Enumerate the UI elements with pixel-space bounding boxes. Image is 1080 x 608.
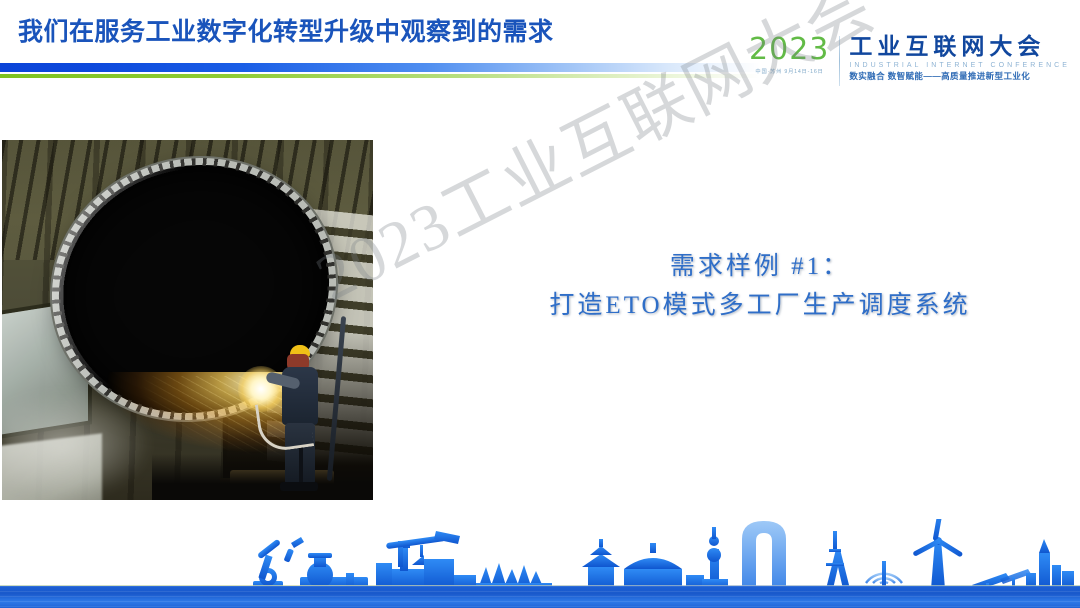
conference-logo-name-cn: 工业互联网大会 [849,34,1070,60]
gate-of-the-orient-icon [742,521,786,589]
city-skyline-silhouette [0,519,1080,589]
factory-icon [376,543,476,589]
city-block-icon [624,543,704,589]
worker-leg-gap [299,445,303,485]
eiffel-tower-icon [826,531,850,589]
page-title: 我们在服务工业数字化转型升级中观察到的需求 [18,16,554,50]
header-divider-green [0,74,760,78]
conference-logo-year-block: 2023 中国·苏州 9月14日-16日 [749,34,839,76]
factory-photo [2,140,373,500]
pagoda-icon [582,539,620,589]
pearl-tower-icon [702,527,728,589]
water-band [0,586,1080,608]
conference-logo: 2023 中国·苏州 9月14日-16日 工业互联网大会 INDUSTRIAL … [749,34,1070,90]
wind-turbine-icon [912,519,963,589]
conference-logo-divider [839,36,840,86]
factory-photo-scene [2,140,373,500]
header-divider-blue [0,63,760,72]
conference-logo-meta: 中国·苏州 9月14日-16日 [755,69,823,76]
conference-logo-slogan: 数实融合 数智赋能——高质量推进新型工业化 [849,71,1070,82]
requirement-example-label: 需求样例 #1： [470,248,1050,286]
conference-logo-year: 2023 [749,34,829,66]
requirement-example-title: 打造ETO模式多工厂生产调度系统 [470,286,1050,326]
conference-logo-name-block: 工业互联网大会 INDUSTRIAL INTERNET CONFERENCE 数… [849,34,1070,82]
main-heading-block: 需求样例 #1： 打造ETO模式多工厂生产调度系统 [470,248,1050,326]
presentation-slide: 我们在服务工业数字化转型升级中观察到的需求 2023 中国·苏州 9月14日-1… [0,0,1080,608]
welder-worker [274,345,338,495]
footer-band [0,518,1080,608]
skyscraper-icon [1026,539,1074,589]
conference-logo-name-en: INDUSTRIAL INTERNET CONFERENCE [849,61,1070,70]
worker-boots [280,482,318,491]
header-divider [0,63,760,79]
pipeline-valve-icon [300,553,368,589]
robot-arm-icon [253,537,304,589]
smoke-haze [2,390,152,500]
